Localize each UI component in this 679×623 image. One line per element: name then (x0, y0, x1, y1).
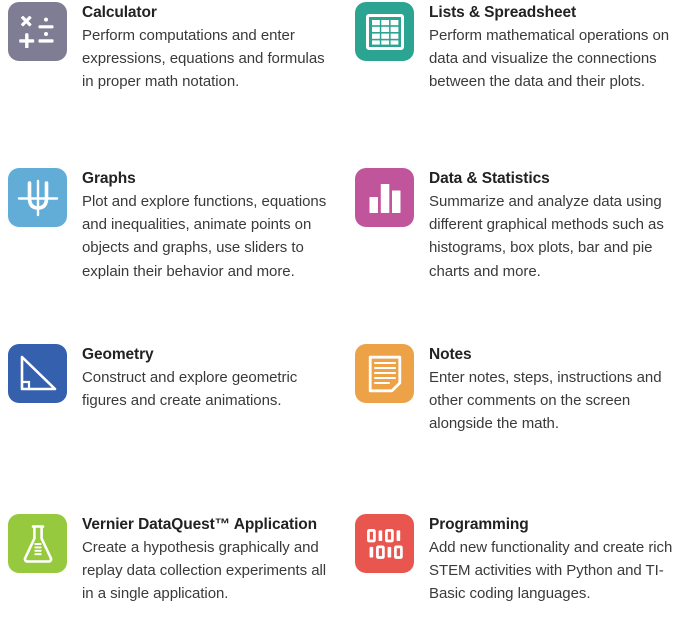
feature-text-data-statistics: Data & Statistics Summarize and analyze … (429, 168, 679, 283)
feature-text-vernier-dataquest: Vernier DataQuest™ Application Create a … (82, 514, 340, 606)
feature-title: Notes (429, 345, 679, 365)
feature-text-lists-spreadsheet: Lists & Spreadsheet Perform mathematical… (429, 2, 679, 94)
flask-icon (8, 514, 67, 573)
feature-grid: Calculator Perform computations and ente… (0, 0, 679, 623)
feature-title: Graphs (82, 169, 340, 189)
feature-item-geometry[interactable]: Geometry Construct and explore geometric… (8, 344, 338, 412)
feature-title: Programming (429, 515, 679, 535)
document-lines-icon (355, 344, 414, 403)
feature-text-graphs: Graphs Plot and explore functions, equat… (82, 168, 340, 283)
right-triangle-icon (8, 344, 67, 403)
feature-title: Calculator (82, 3, 340, 23)
feature-text-calculator: Calculator Perform computations and ente… (82, 2, 340, 94)
spreadsheet-grid-icon (355, 2, 414, 61)
feature-item-lists-spreadsheet[interactable]: Lists & Spreadsheet Perform mathematical… (355, 2, 679, 94)
feature-description: Summarize and analyze data using differe… (429, 190, 679, 283)
feature-text-geometry: Geometry Construct and explore geometric… (82, 344, 340, 412)
feature-item-graphs[interactable]: Graphs Plot and explore functions, equat… (8, 168, 338, 283)
feature-description: Add new functionality and create rich ST… (429, 536, 679, 606)
graph-parabola-icon (8, 168, 67, 227)
bar-chart-icon (355, 168, 414, 227)
feature-item-calculator[interactable]: Calculator Perform computations and ente… (8, 2, 338, 94)
feature-description: Enter notes, steps, instructions and oth… (429, 366, 679, 436)
feature-item-data-statistics[interactable]: Data & Statistics Summarize and analyze … (355, 168, 679, 283)
feature-text-programming: Programming Add new functionality and cr… (429, 514, 679, 606)
binary-code-icon (355, 514, 414, 573)
feature-title: Geometry (82, 345, 340, 365)
feature-description: Perform computations and enter expressio… (82, 24, 340, 94)
feature-item-programming[interactable]: Programming Add new functionality and cr… (355, 514, 679, 606)
feature-title: Vernier DataQuest™ Application (82, 515, 340, 535)
feature-item-vernier-dataquest[interactable]: Vernier DataQuest™ Application Create a … (8, 514, 338, 606)
feature-title: Data & Statistics (429, 169, 679, 189)
feature-description: Plot and explore functions, equations an… (82, 190, 340, 283)
feature-description: Perform mathematical operations on data … (429, 24, 679, 94)
feature-title: Lists & Spreadsheet (429, 3, 679, 23)
feature-item-notes[interactable]: Notes Enter notes, steps, instructions a… (355, 344, 679, 436)
feature-text-notes: Notes Enter notes, steps, instructions a… (429, 344, 679, 436)
feature-description: Construct and explore geometric figures … (82, 366, 340, 412)
feature-description: Create a hypothesis graphically and repl… (82, 536, 340, 606)
calculator-icon (8, 2, 67, 61)
